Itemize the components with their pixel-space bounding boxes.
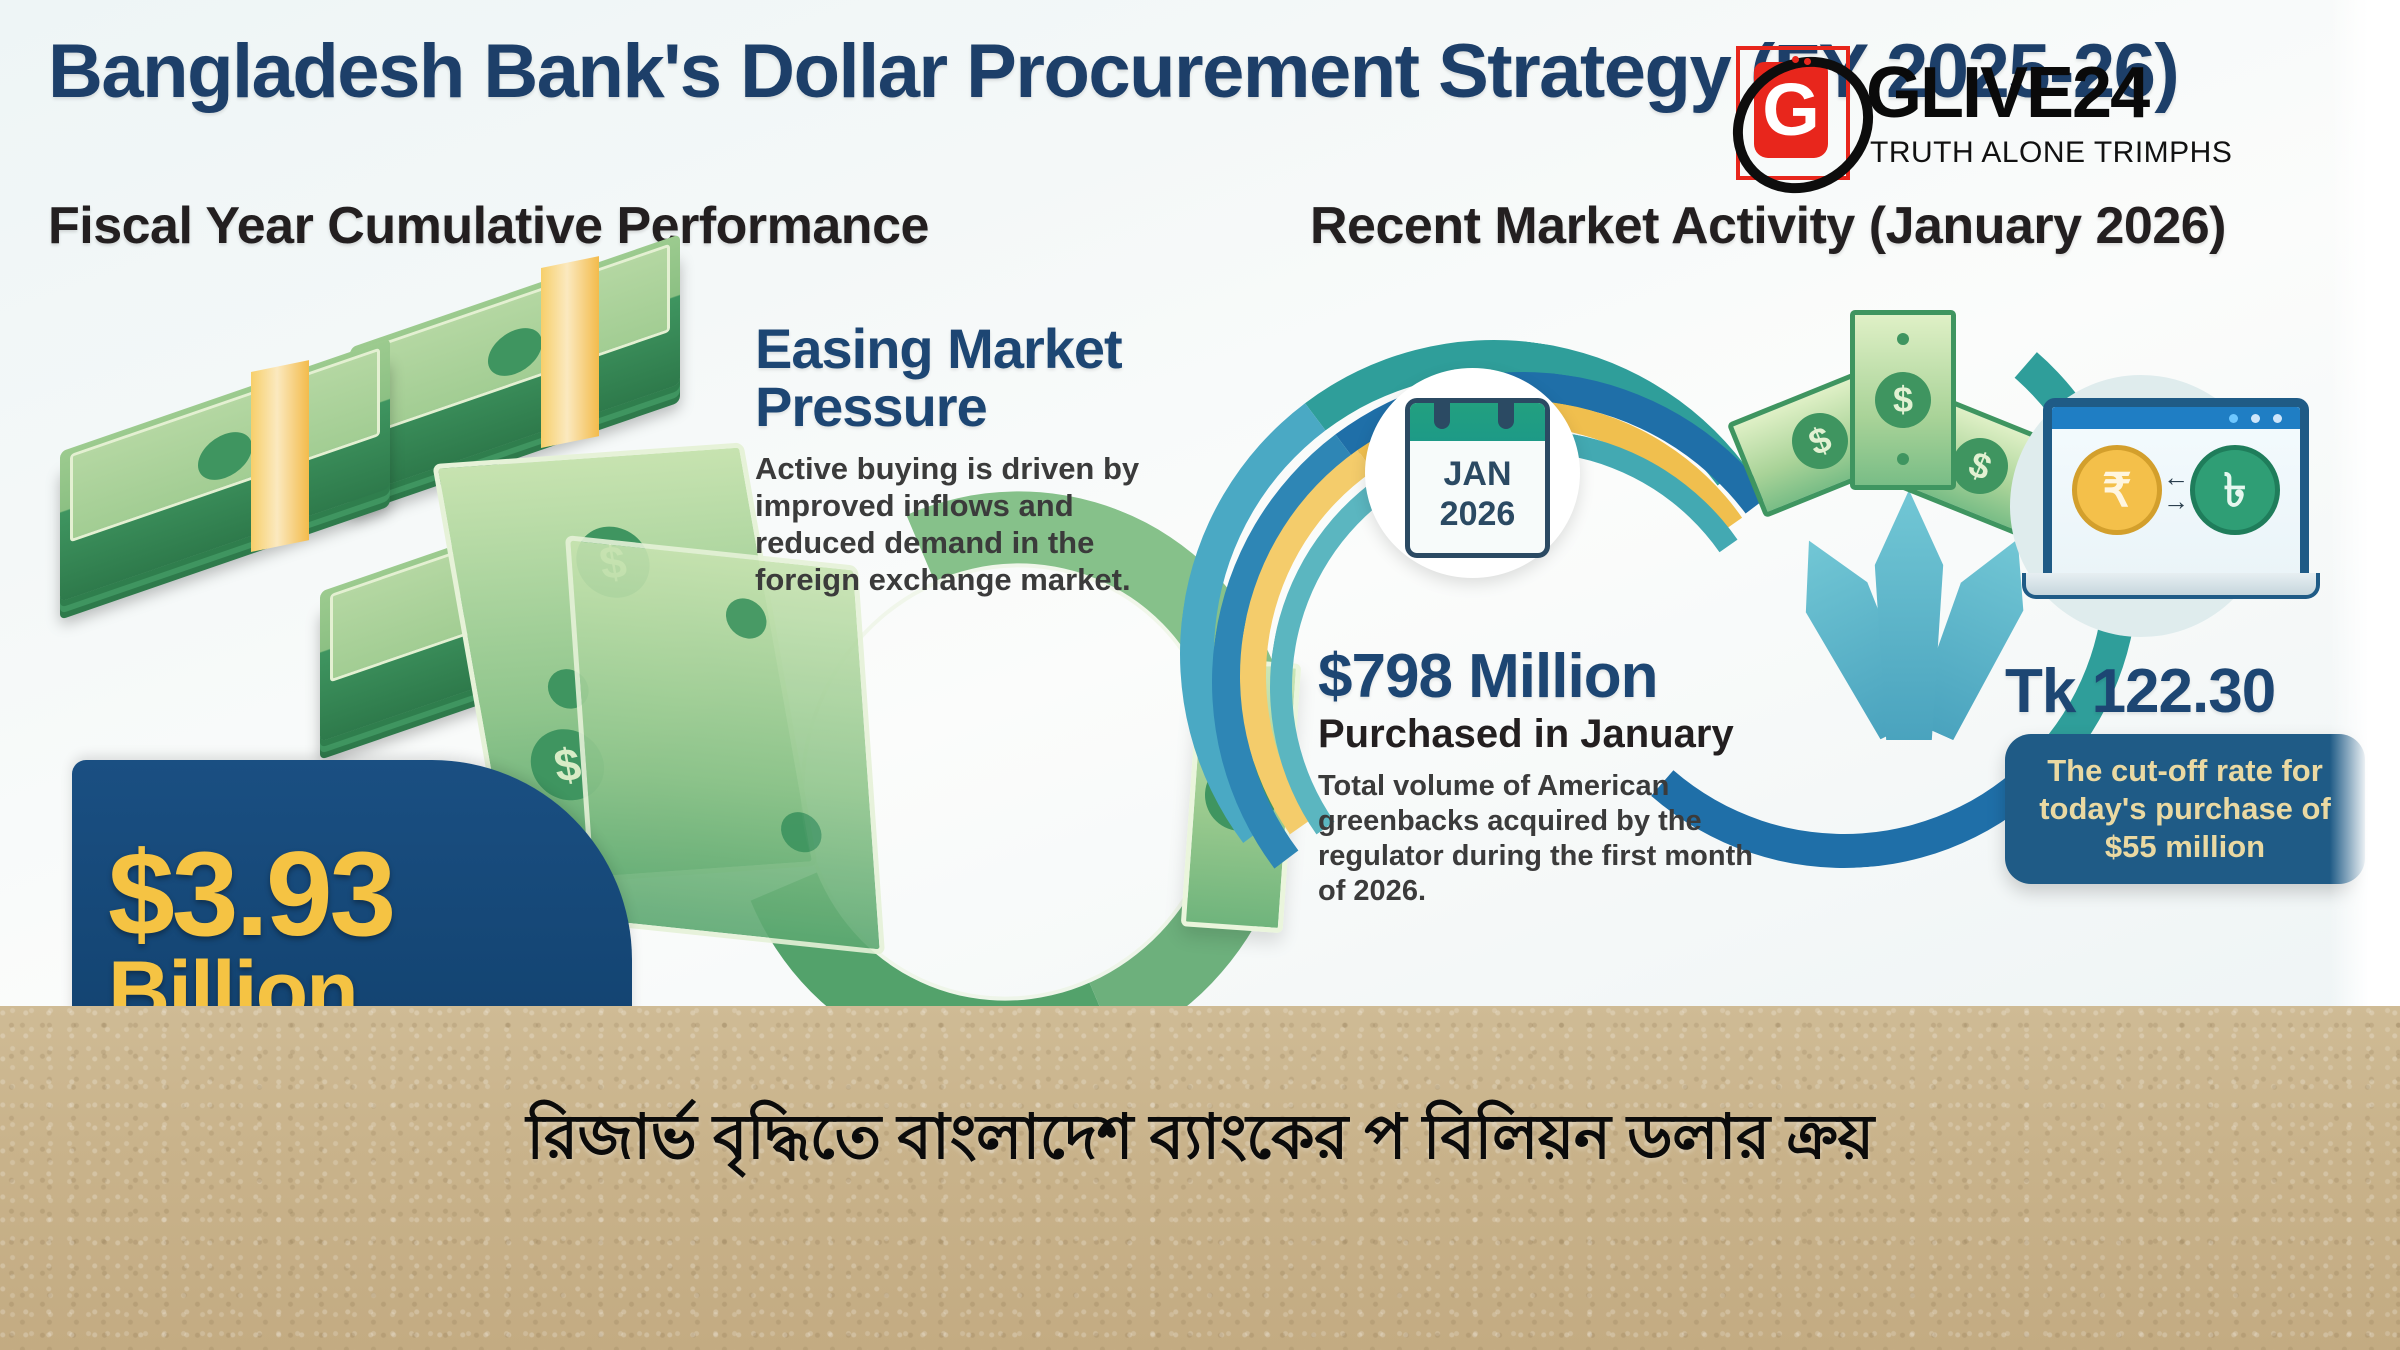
laptop-currency-exchange-icon: ₹ ←→ ৳ — [2043, 398, 2309, 591]
january-subhead: Purchased in January — [1318, 711, 1788, 757]
brand-name: GLIVE24 — [1866, 52, 2148, 134]
logo-dots-icon — [1792, 56, 1818, 82]
infographic-canvas: Bangladesh Bank's Dollar Procurement Str… — [0, 0, 2400, 1060]
january-body-text: Total volume of American greenbacks acqu… — [1318, 769, 1788, 909]
cutoff-rate-block: Tk 122.30 The cut-off rate for today's p… — [2005, 660, 2365, 884]
january-headline: $798 Million — [1318, 645, 1788, 709]
subheading-left: Fiscal Year Cumulative Performance — [48, 196, 929, 256]
infographic-stage: Bangladesh Bank's Dollar Procurement Str… — [0, 0, 2400, 1350]
calendar-month: JAN — [1410, 457, 1545, 491]
brand-tagline: TRUTH ALONE TRIMPHS — [1870, 136, 2232, 170]
rupee-coin-icon: ₹ — [2072, 445, 2162, 535]
watermark-logo: G GLIVE24 TRUTH ALONE TRIMPHS — [1736, 46, 2356, 206]
cutoff-rate-pill: The cut-off rate for today's purchase of… — [2005, 734, 2365, 884]
cumulative-amount: $3.93 Billion — [108, 838, 628, 1034]
laptop-base — [2022, 573, 2320, 599]
taka-coin-icon: ৳ — [2190, 445, 2280, 535]
january-purchase-block: $798 Million Purchased in January Total … — [1318, 645, 1788, 909]
bengali-caption: রিজার্ভ বৃদ্ধিতে বাংলাদেশ ব্যাংকের প বিল… — [0, 1090, 2400, 1193]
calendar-icon: JAN 2026 — [1405, 398, 1550, 558]
easing-headline-line2: Pressure — [755, 375, 987, 438]
cutoff-rate-headline: Tk 122.30 — [2005, 660, 2365, 724]
amount-value: $3.93 — [108, 838, 628, 950]
calendar-year: 2026 — [1410, 497, 1545, 531]
logo-frame: G — [1736, 46, 1850, 180]
easing-headline-line1: Easing Market — [755, 317, 1122, 380]
